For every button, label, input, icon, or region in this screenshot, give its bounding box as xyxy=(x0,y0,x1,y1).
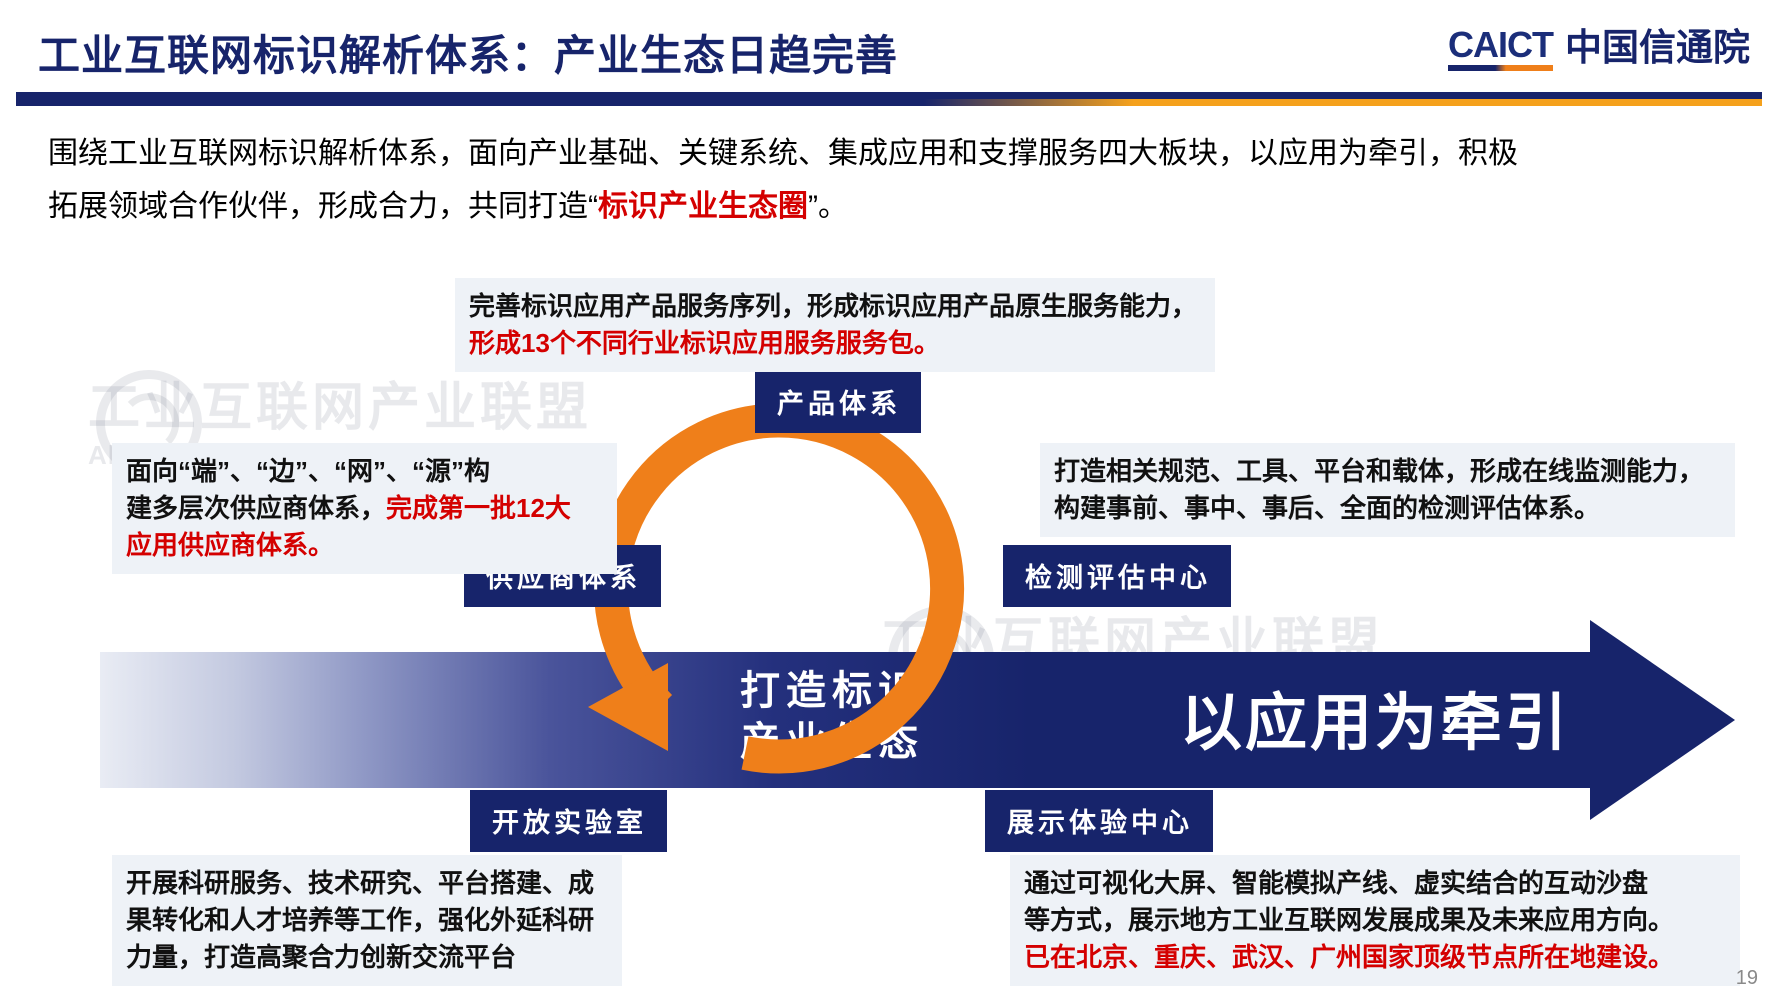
callout-product-system: 完善标识应用产品服务序列，形成标识应用产品原生服务能力， 形成13个不同行业标识… xyxy=(455,278,1215,372)
callout-br-line-1: 通过可视化大屏、智能模拟产线、虚实结合的互动沙盘 xyxy=(1024,865,1726,902)
caict-logo-text: CAICT xyxy=(1448,24,1553,65)
callout-left-line-2: 建多层次供应商体系，完成第一批12大 xyxy=(126,490,603,527)
callout-experience-center: 通过可视化大屏、智能模拟产线、虚实结合的互动沙盘 等方式，展示地方工业互联网发展… xyxy=(1010,855,1740,986)
callout-left-line-1: 面向“端”、“边”、“网”、“源”构 xyxy=(126,453,603,490)
arrow-main-label: 以应用为牵引 xyxy=(1180,672,1570,762)
callout-br-line-2: 等方式，展示地方工业互联网发展成果及未来应用方向。 xyxy=(1024,902,1726,939)
node-chip-product[interactable]: 产品体系 xyxy=(755,371,921,433)
callout-left-line-2-black: 建多层次供应商体系， xyxy=(126,493,386,523)
caict-logo: CAICT 中国信通院 xyxy=(1448,26,1750,71)
page-number: 19 xyxy=(1736,967,1758,990)
callout-bl-line-1: 开展科研服务、技术研究、平台搭建、成 xyxy=(126,865,608,902)
callout-bl-line-2: 果转化和人才培养等工作，强化外延科研 xyxy=(126,902,608,939)
intro-highlight: 标识产业生态圈 xyxy=(598,190,808,223)
intro-line-2-after: ”。 xyxy=(808,190,848,223)
intro-line-1: 围绕工业互联网标识解析体系，面向产业基础、关键系统、集成应用和支撑服务四大板块，… xyxy=(48,128,1738,181)
intro-paragraph: 围绕工业互联网标识解析体系，面向产业基础、关键系统、集成应用和支撑服务四大板块，… xyxy=(48,128,1738,233)
callout-top-line-2: 形成13个不同行业标识应用服务服务包。 xyxy=(469,325,1201,362)
caict-logo-name: 中国信通院 xyxy=(1565,29,1750,71)
callout-right-line-1: 打造相关规范、工具、平台和载体，形成在线监测能力， xyxy=(1054,453,1721,490)
callout-br-line-3: 已在北京、重庆、武汉、广州国家顶级节点所在地建设。 xyxy=(1024,939,1726,976)
slide-header: 工业互联网标识解析体系：产业生态日趋完善 CAICT 中国信通院 xyxy=(0,0,1778,108)
node-chip-experience-center[interactable]: 展示体验中心 xyxy=(985,790,1213,852)
intro-line-2-before: 拓展领域合作伙伴，形成合力，共同打造“ xyxy=(48,190,598,223)
callout-left-line-2-red: 完成第一批12大 xyxy=(386,493,571,523)
arrow-head xyxy=(1590,620,1735,820)
callout-left-line-3: 应用供应商体系。 xyxy=(126,527,603,564)
node-chip-testing[interactable]: 检测评估中心 xyxy=(1003,545,1231,607)
caict-logo-mark: CAICT xyxy=(1448,26,1553,71)
callout-open-lab: 开展科研服务、技术研究、平台搭建、成 果转化和人才培养等工作，强化外延科研 力量… xyxy=(112,855,622,986)
header-rule-accent xyxy=(16,99,1762,106)
callout-testing-center: 打造相关规范、工具、平台和载体，形成在线监测能力， 构建事前、事中、事后、全面的… xyxy=(1040,443,1735,537)
page-title: 工业互联网标识解析体系：产业生态日趋完善 xyxy=(38,22,898,83)
callout-right-line-2: 构建事前、事中、事后、全面的检测评估体系。 xyxy=(1054,490,1721,527)
slide-root: 工业互联网产业联盟 Alliance of Industrial Interne… xyxy=(0,0,1778,1000)
node-chip-open-lab[interactable]: 开放实验室 xyxy=(470,790,667,852)
watermark-cn-text: 工业互联网产业联盟 xyxy=(88,365,592,440)
caict-logo-underline xyxy=(1448,65,1553,71)
intro-line-2: 拓展领域合作伙伴，形成合力，共同打造“标识产业生态圈”。 xyxy=(48,181,1738,234)
callout-top-line-1: 完善标识应用产品服务序列，形成标识应用产品原生服务能力， xyxy=(469,288,1201,325)
callout-bl-line-3: 力量，打造高聚合力创新交流平台 xyxy=(126,939,608,976)
callout-supplier-system: 面向“端”、“边”、“网”、“源”构 建多层次供应商体系，完成第一批12大 应用… xyxy=(112,443,617,574)
header-rule-navy xyxy=(16,92,1762,99)
